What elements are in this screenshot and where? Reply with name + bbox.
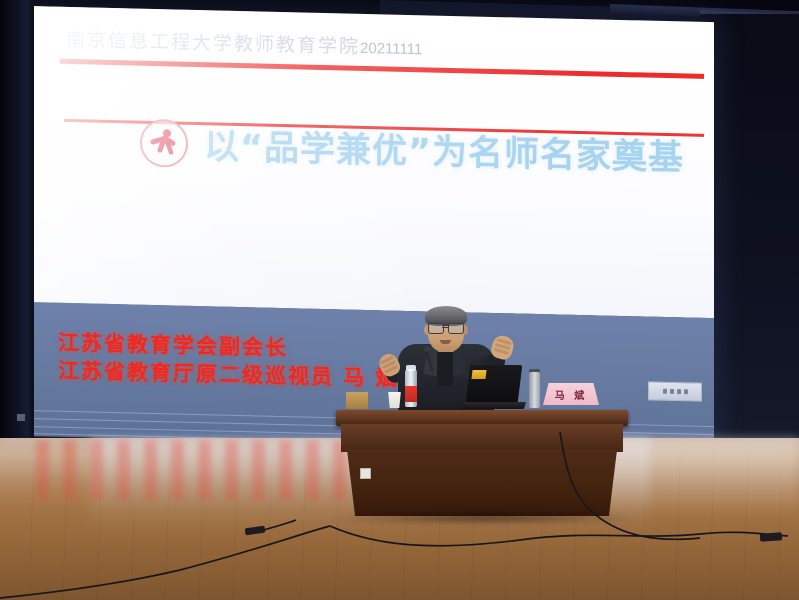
bottle-label (405, 386, 417, 402)
curtain-tab (17, 414, 25, 421)
slide-speaker-credentials: 江苏省教育学会副会长 江苏省教育厅原二级巡视员 马 斌 (58, 329, 399, 393)
glasses-icon (428, 323, 464, 332)
left-curtain (0, 0, 34, 445)
laptop-sticker (471, 370, 486, 379)
desk-nameplate: 马 斌 (543, 383, 599, 405)
shirt-front (437, 352, 453, 386)
wall-placard-icon (648, 381, 702, 401)
laptop-keyboard-base (462, 402, 526, 409)
cable-plug-right (760, 532, 783, 542)
running-figure-logo-icon (140, 118, 188, 167)
right-wall (700, 14, 799, 434)
thermos-icon (529, 372, 540, 408)
nameplate-text: 马 斌 (555, 387, 587, 402)
projection-screen: 南京信息工程大学教师教育学院20211111 以“品学兼优”为名师名家奠基 (28, 6, 714, 454)
lecture-hall-photo: 南京信息工程大学教师教育学院20211111 以“品学兼优”为名师名家奠基 (0, 0, 799, 600)
desk-box-object (346, 392, 368, 409)
floor-cables (0, 430, 799, 600)
microphone-head-icon (424, 346, 430, 352)
slide-header-date: 20211111 (360, 40, 422, 58)
